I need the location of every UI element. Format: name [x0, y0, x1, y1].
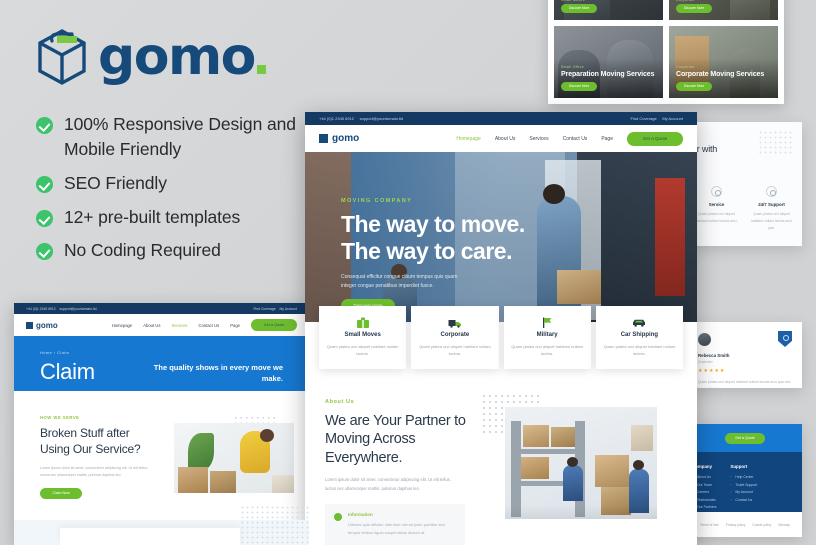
- section-eyebrow: HOW WE SERVE: [40, 415, 150, 420]
- cta-band: Get a Quote: [688, 424, 802, 452]
- section-photo: [174, 423, 294, 493]
- legal-link[interactable]: Terms of Use: [700, 523, 719, 527]
- service-tile[interactable]: Corporate Discover More: [669, 0, 778, 20]
- box-3d-logo-icon: [36, 28, 88, 86]
- check-icon: [36, 243, 53, 260]
- legal-link[interactable]: Cookie policy: [752, 523, 771, 527]
- services-grid-mockup: Small Moves Discover More Corporate Disc…: [548, 0, 784, 104]
- clock-icon: [766, 186, 777, 197]
- nav-item-services[interactable]: Services: [171, 323, 187, 328]
- nav-item-contact-us[interactable]: Contact Us: [199, 323, 220, 328]
- my-account-link[interactable]: My Account: [279, 307, 297, 311]
- feature-title: 24/7 Support: [747, 202, 796, 207]
- service-eyebrow: Corporate: [676, 65, 772, 69]
- homepage-mockup: +44 (0)1 2345 6912 support@yourdomain.tl…: [305, 112, 697, 545]
- service-card[interactable]: Small Moves Quam platea orci aliquet hab…: [319, 306, 406, 369]
- box-3d-logo-icon: [26, 322, 33, 329]
- nav-item-contact-us[interactable]: Contact Us: [563, 136, 588, 142]
- feature-label: SEO Friendly: [64, 171, 167, 196]
- section-paragraph: Lorem ipsum dolor sit amet, consectetur …: [40, 465, 150, 479]
- brand-name: gomo: [98, 31, 266, 83]
- service-title: Preparation Moving Services: [561, 71, 657, 78]
- navbar-links: Homepage About Us Services Contact Us Pa…: [101, 319, 297, 331]
- about-photo: [505, 407, 657, 519]
- service-tile[interactable]: Corporate Corporate Moving Services Disc…: [669, 26, 778, 98]
- service-card[interactable]: Military Quam platea orci aliquet habita…: [504, 306, 591, 369]
- feature-column: Service Quam platea orci aliquet habitan…: [692, 186, 741, 231]
- service-eyebrow: Small Office: [561, 65, 657, 69]
- check-icon: [36, 176, 53, 193]
- phone-number[interactable]: +44 (0)1 2345 6912: [26, 307, 56, 311]
- testimonial-text: Quam platea orci aliquet habitant nullam…: [698, 379, 792, 388]
- badge-icon: [711, 186, 722, 197]
- about-title: We are Your Partner to Moving Across Eve…: [325, 412, 475, 468]
- service-card-text: Quam platea orci aliquet habitant nullam…: [509, 343, 586, 358]
- flag-icon: [540, 315, 554, 326]
- service-cards: Small Moves Quam platea orci aliquet hab…: [305, 306, 697, 369]
- footer-mockup: Get a Quote Company About Us Our Team Ca…: [688, 424, 802, 537]
- shield-icon: [778, 331, 792, 347]
- footer-link[interactable]: My Account: [730, 490, 757, 494]
- feature-item: No Coding Required: [36, 238, 316, 263]
- promo-panel: gomo 100% Responsive Design and Mobile F…: [36, 28, 316, 272]
- service-eyebrow: Small Moves: [561, 0, 657, 2]
- find-coverage-link[interactable]: Find Coverage: [253, 307, 275, 311]
- box-3d-logo-icon: [319, 134, 328, 143]
- hero-banner: MOVING COMPANY The way to move. The way …: [305, 152, 697, 322]
- check-icon: [36, 117, 53, 134]
- nav-item-about-us[interactable]: About Us: [495, 136, 516, 142]
- service-tile[interactable]: Small Office Preparation Moving Services…: [554, 26, 663, 98]
- nav-item-services[interactable]: Services: [529, 136, 548, 142]
- feature-column: 24/7 Support Quam platea orci aliquet ha…: [747, 186, 796, 231]
- service-card-text: Quam platea orci aliquet habitant nullam…: [324, 343, 401, 358]
- service-card-text: Quam platea orci aliquet habitant nullam…: [416, 343, 493, 358]
- claim-now-button[interactable]: Claim Now: [40, 488, 82, 499]
- footer-link[interactable]: Contact Us: [730, 498, 757, 502]
- testimonial-role: Customer: [698, 360, 792, 364]
- legal-link[interactable]: Privacy policy: [726, 523, 746, 527]
- navbar-links: Homepage About Us Services Contact Us Pa…: [442, 132, 683, 146]
- nav-item-about-us[interactable]: About Us: [143, 323, 160, 328]
- feature-label: No Coding Required: [64, 238, 221, 263]
- about-eyebrow: About Us: [325, 399, 475, 405]
- main-navbar: gomo Homepage About Us Services Contact …: [14, 314, 309, 336]
- section-title: Broken Stuff after Using Our Service?: [40, 426, 150, 458]
- footer-column-support: Support Help Center Ticket Support My Ac…: [730, 464, 757, 512]
- navbar-brand[interactable]: gomo: [319, 133, 359, 144]
- feature-text: Quam platea orci aliquet habitant nullam…: [747, 211, 796, 231]
- service-title: Corporate Moving Services: [676, 71, 772, 78]
- hero-content: MOVING COMPANY The way to move. The way …: [341, 198, 525, 313]
- service-eyebrow: Corporate: [676, 0, 772, 2]
- feature-item: SEO Friendly: [36, 171, 316, 196]
- footer-link[interactable]: Ticket Support: [730, 483, 757, 487]
- testimonial-name: Rebecca Smith: [698, 353, 792, 358]
- phone-number[interactable]: +44 (0)1 2345 6912: [319, 116, 354, 121]
- service-card-title: Small Moves: [324, 332, 401, 338]
- testimonial-mockup: Rebecca Smith Customer ★★★★★ Quam platea…: [688, 322, 802, 388]
- email-address[interactable]: support@yourdomain.tld: [360, 116, 404, 121]
- find-coverage-link[interactable]: Find Coverage: [631, 116, 657, 121]
- utility-bar: +44 (0)1 2345 6912 support@yourdomain.tl…: [14, 303, 309, 314]
- suitcase-icon: [356, 315, 370, 326]
- main-navbar: gomo Homepage About Us Services Contact …: [305, 125, 697, 152]
- page-tagline: The quality shows in every move we make.: [143, 362, 283, 385]
- service-card-title: Car Shipping: [601, 332, 678, 338]
- hero-title-line-2: The way to care.: [341, 238, 525, 265]
- breadcrumb: Home › Claim: [40, 350, 95, 355]
- about-paragraph: Lorem ipsum dolor sit amet, consectetur …: [325, 476, 457, 493]
- feature-title: Service: [692, 202, 741, 207]
- avatar: [698, 333, 711, 346]
- car-icon: [632, 315, 646, 326]
- hero-title-line-1: The way to move.: [341, 211, 525, 238]
- get-a-quote-button[interactable]: Get a Quote: [251, 319, 297, 331]
- information-text: Ultrices quis efficitur interdum rutrum …: [348, 521, 456, 537]
- service-card[interactable]: Corporate Quam platea orci aliquet habit…: [411, 306, 498, 369]
- page-header: Home › Claim Claim The quality shows in …: [14, 336, 309, 391]
- service-card[interactable]: Car Shipping Quam platea orci aliquet ha…: [596, 306, 683, 369]
- service-tile[interactable]: Small Moves Discover More: [554, 0, 663, 20]
- info-icon: [334, 513, 342, 521]
- dot-pattern: [758, 130, 794, 154]
- dot-pattern: [240, 505, 310, 545]
- footer-link[interactable]: Help Center: [730, 475, 757, 479]
- discover-more-button[interactable]: Discover More: [676, 82, 712, 91]
- truck-icon: [448, 315, 462, 326]
- feature-item: 12+ pre-built templates: [36, 205, 316, 230]
- footer-legal: Terms of Use Privacy policy Cookie polic…: [688, 512, 802, 537]
- page-title: Claim: [40, 359, 95, 385]
- service-card-title: Corporate: [416, 332, 493, 338]
- nav-item-page[interactable]: Page: [230, 323, 240, 328]
- service-card-text: Quam platea orci aliquet habitant nullam…: [601, 343, 678, 358]
- navbar-brand-label: gomo: [36, 321, 58, 330]
- star-rating: ★★★★★: [698, 368, 792, 374]
- feature-label: 100% Responsive Design and Mobile Friend…: [64, 112, 316, 162]
- get-a-quote-button[interactable]: Get a Quote: [725, 433, 765, 444]
- my-account-link[interactable]: My Account: [662, 116, 683, 121]
- discover-more-button[interactable]: Discover More: [676, 4, 712, 13]
- service-card-title: Military: [509, 332, 586, 338]
- check-icon: [36, 210, 53, 227]
- brand-logo: gomo: [36, 28, 316, 86]
- feature-item: 100% Responsive Design and Mobile Friend…: [36, 112, 316, 162]
- navbar-brand-label: gomo: [332, 133, 359, 144]
- brand-dot: [257, 65, 266, 74]
- information-title: Information: [348, 512, 456, 517]
- discover-more-button[interactable]: Discover More: [561, 82, 597, 91]
- get-a-quote-button[interactable]: Get a Quote: [627, 132, 683, 146]
- email-address[interactable]: support@yourdomain.tld: [59, 307, 96, 311]
- nav-item-homepage[interactable]: Homepage: [456, 136, 480, 142]
- hero-eyebrow: MOVING COMPANY: [341, 198, 525, 204]
- background-panel: [60, 528, 240, 545]
- about-section: About Us We are Your Partner to Moving A…: [305, 369, 697, 545]
- feature-label: 12+ pre-built templates: [64, 205, 240, 230]
- nav-item-homepage[interactable]: Homepage: [112, 323, 133, 328]
- utility-bar: +44 (0)1 2345 6912 support@yourdomain.tl…: [305, 112, 697, 125]
- footer-column-title: Support: [730, 464, 757, 469]
- navbar-brand[interactable]: gomo: [26, 321, 58, 330]
- discover-more-button[interactable]: Discover More: [561, 4, 597, 13]
- information-box: Information Ultrices quis efficitur inte…: [325, 504, 465, 545]
- feature-text: Quam platea orci aliquet habitant nullam…: [692, 211, 741, 225]
- features-mockup: er with Service Quam platea orci aliquet…: [688, 122, 802, 246]
- hero-paragraph: Consequat efficitur congue cibum tempus …: [341, 273, 461, 290]
- legal-link[interactable]: Sitemap: [778, 523, 790, 527]
- nav-item-page[interactable]: Page: [601, 136, 613, 142]
